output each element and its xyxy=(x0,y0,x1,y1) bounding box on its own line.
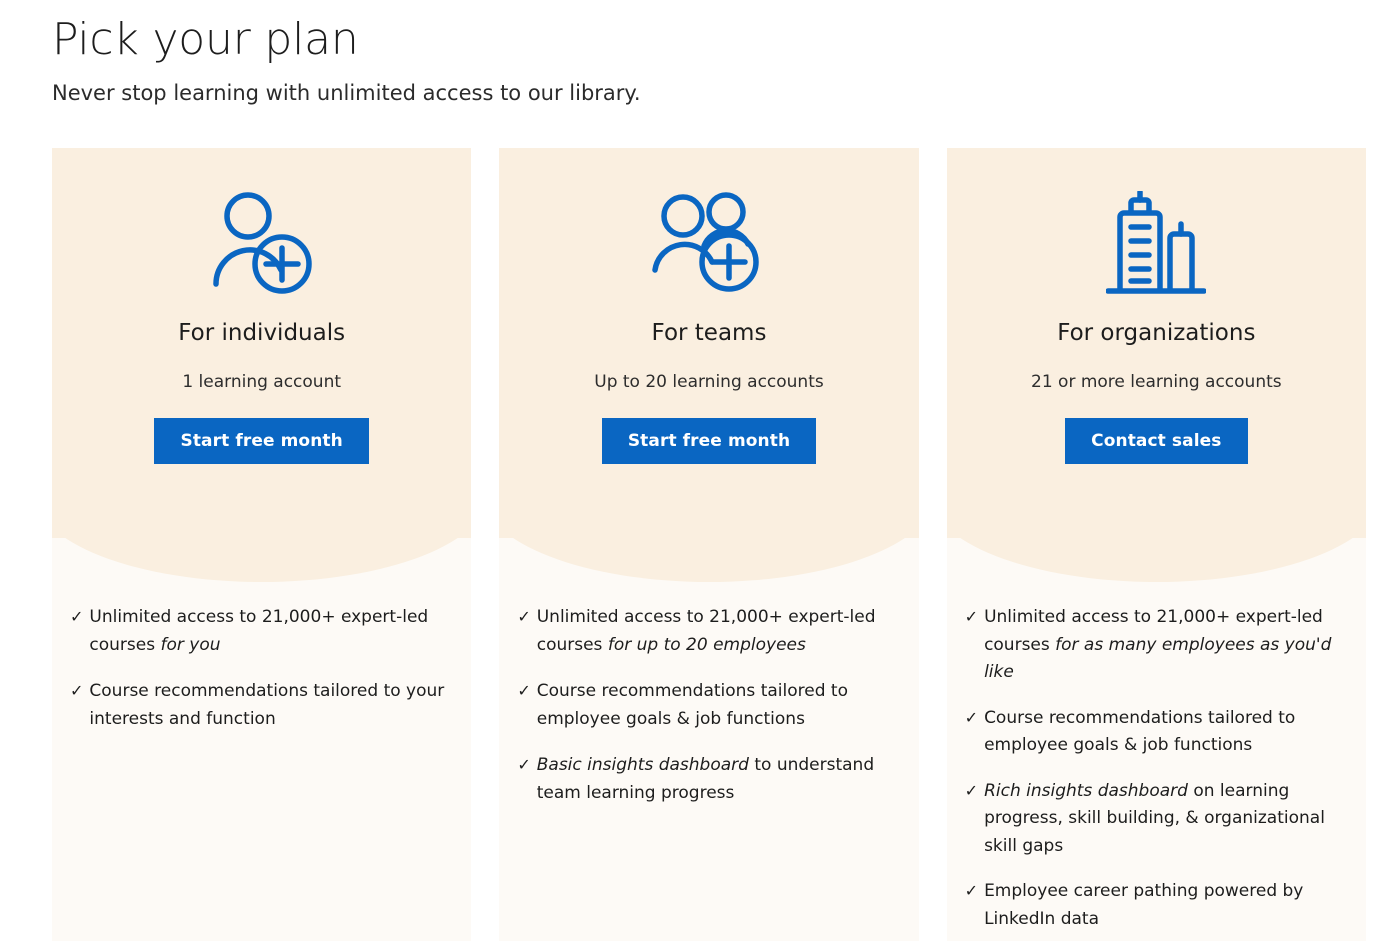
plan-name: For teams xyxy=(652,320,767,346)
feature-prefix: Employee career pathing powered by Linke… xyxy=(984,881,1303,929)
plan-card-header: For organizations 21 or more learning ac… xyxy=(947,148,1366,538)
feature-text: Course recommendations tailored to your … xyxy=(89,678,449,733)
check-icon: ✓ xyxy=(965,604,978,630)
pricing-page: Pick your plan Never stop learning with … xyxy=(0,0,1400,941)
page-subtitle: Never stop learning with unlimited acces… xyxy=(52,80,1400,107)
check-icon: ✓ xyxy=(70,604,83,630)
feature-emphasis: Rich insights dashboard xyxy=(984,781,1188,801)
plan-card-organizations: For organizations 21 or more learning ac… xyxy=(947,148,1366,941)
page-header: Pick your plan Never stop learning with … xyxy=(0,0,1400,107)
feature-text: Unlimited access to 21,000+ expert-led c… xyxy=(537,604,897,659)
page-title: Pick your plan xyxy=(52,14,1400,66)
plan-name: For individuals xyxy=(178,320,345,346)
feature-item: ✓ Course recommendations tailored to you… xyxy=(70,678,449,733)
feature-prefix: Course recommendations tailored to your … xyxy=(89,681,444,729)
feature-item: ✓ Unlimited access to 21,000+ expert-led… xyxy=(70,604,449,659)
plan-name: For organizations xyxy=(1057,320,1255,346)
contact-sales-button[interactable]: Contact sales xyxy=(1065,418,1247,464)
start-free-month-button[interactable]: Start free month xyxy=(602,418,816,464)
feature-text: Rich insights dashboard on learning prog… xyxy=(984,778,1344,861)
feature-text: Unlimited access to 21,000+ expert-led c… xyxy=(89,604,449,659)
plan-accounts: Up to 20 learning accounts xyxy=(594,372,823,392)
person-plus-icon xyxy=(208,184,316,304)
buildings-icon xyxy=(1106,184,1206,304)
plan-feature-list: ✓ Unlimited access to 21,000+ expert-led… xyxy=(52,538,471,733)
feature-item: ✓ Course recommendations tailored to emp… xyxy=(965,705,1344,760)
plan-accounts: 1 learning account xyxy=(182,372,341,392)
feature-item: ✓ Unlimited access to 21,000+ expert-led… xyxy=(517,604,896,659)
start-free-month-button[interactable]: Start free month xyxy=(154,418,368,464)
feature-item: ✓ Basic insights dashboard to understand… xyxy=(517,752,896,807)
plan-card-header: For teams Up to 20 learning accounts Sta… xyxy=(499,148,918,538)
people-plus-icon xyxy=(651,184,767,304)
check-icon: ✓ xyxy=(517,752,530,778)
plan-cards-row: For individuals 1 learning account Start… xyxy=(52,148,1366,941)
feature-text: Course recommendations tailored to emplo… xyxy=(537,678,897,733)
check-icon: ✓ xyxy=(965,778,978,804)
feature-prefix: Course recommendations tailored to emplo… xyxy=(537,681,848,729)
check-icon: ✓ xyxy=(517,678,530,704)
feature-item: ✓ Course recommendations tailored to emp… xyxy=(517,678,896,733)
feature-emphasis: for you xyxy=(161,635,221,655)
feature-text: Basic insights dashboard to understand t… xyxy=(537,752,897,807)
feature-emphasis: Basic insights dashboard xyxy=(537,755,749,775)
feature-text: Unlimited access to 21,000+ expert-led c… xyxy=(984,604,1344,687)
plan-accounts: 21 or more learning accounts xyxy=(1031,372,1282,392)
feature-emphasis: for up to 20 employees xyxy=(608,635,806,655)
feature-item: ✓ Unlimited access to 21,000+ expert-led… xyxy=(965,604,1344,687)
plan-card-teams: For teams Up to 20 learning accounts Sta… xyxy=(499,148,918,941)
plan-feature-list: ✓ Unlimited access to 21,000+ expert-led… xyxy=(499,538,918,807)
plan-feature-list: ✓ Unlimited access to 21,000+ expert-led… xyxy=(947,538,1366,941)
check-icon: ✓ xyxy=(70,678,83,704)
plan-card-individuals: For individuals 1 learning account Start… xyxy=(52,148,471,941)
feature-text: Employee career pathing powered by Linke… xyxy=(984,878,1344,933)
plan-card-header: For individuals 1 learning account Start… xyxy=(52,148,471,538)
feature-item: ✓ Employee career pathing powered by Lin… xyxy=(965,878,1344,933)
feature-text: Course recommendations tailored to emplo… xyxy=(984,705,1344,760)
check-icon: ✓ xyxy=(517,604,530,630)
check-icon: ✓ xyxy=(965,878,978,904)
feature-prefix: Course recommendations tailored to emplo… xyxy=(984,708,1295,756)
check-icon: ✓ xyxy=(965,705,978,731)
feature-prefix: Unlimited access to 21,000+ expert-led c… xyxy=(89,607,428,655)
feature-item: ✓ Rich insights dashboard on learning pr… xyxy=(965,778,1344,861)
